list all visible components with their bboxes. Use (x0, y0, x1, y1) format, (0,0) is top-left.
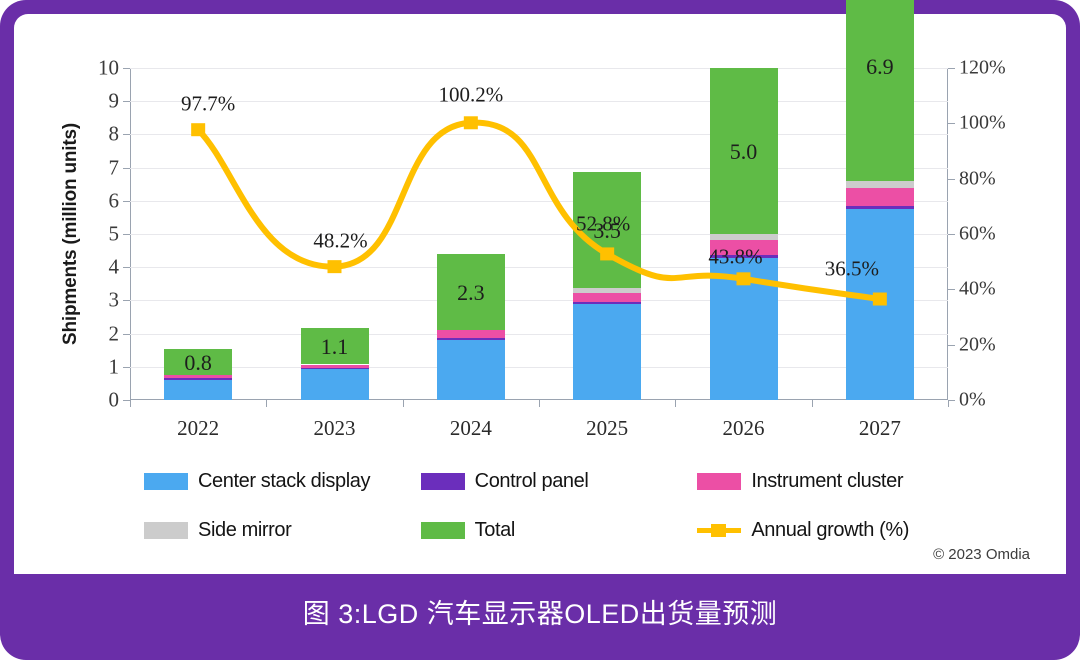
legend-color-swatch (144, 522, 188, 539)
legend-color-swatch (421, 522, 465, 539)
y-axis-tick-label: 8 (109, 122, 120, 147)
legend-label: Annual growth (%) (751, 519, 909, 542)
x-axis-tick (130, 400, 131, 407)
y-axis-tick (123, 101, 130, 102)
y-axis-tick-label: 6 (109, 188, 120, 213)
legend-label: Center stack display (198, 470, 370, 493)
growth-line-marker[interactable] (600, 247, 614, 260)
y-axis-tick (123, 168, 130, 169)
y-axis-tick (123, 201, 130, 202)
y2-axis-tick (948, 345, 955, 346)
legend-item[interactable]: Instrument cluster (697, 470, 974, 493)
y2-axis-tick (948, 123, 955, 124)
y-axis-tick-label: 7 (109, 155, 120, 180)
y2-axis-tick-label: 60% (959, 223, 996, 246)
x-axis-tick (812, 400, 813, 407)
y2-axis-tick (948, 400, 955, 401)
x-axis-tick (403, 400, 404, 407)
y-axis-tick-label: 10 (98, 56, 119, 81)
legend-label: Side mirror (198, 519, 291, 542)
growth-value-label: 36.5% (825, 257, 879, 282)
y-axis-tick-label: 4 (109, 255, 120, 280)
y-axis-tick (123, 367, 130, 368)
x-axis-tick (675, 400, 676, 407)
figure-frame: Shipments (million units) 012345678910 0… (0, 0, 1080, 660)
legend-label: Instrument cluster (751, 470, 903, 493)
growth-line-marker[interactable] (737, 272, 751, 285)
figure-caption: 图 3:LGD 汽车显示器OLED出货量预测 (0, 578, 1080, 644)
x-axis-tick-label: 2026 (723, 416, 765, 441)
plot-area: 012345678910 0%20%40%60%80%100%120% 2022… (130, 68, 948, 400)
legend-label: Control panel (475, 470, 589, 493)
legend-item[interactable]: Side mirror (144, 519, 421, 542)
y-axis-tick (123, 234, 130, 235)
x-axis-tick-label: 2025 (586, 416, 628, 441)
y-axis-tick-label: 1 (109, 354, 120, 379)
y-axis-tick (123, 68, 130, 69)
growth-line-marker[interactable] (464, 116, 478, 129)
growth-line (130, 68, 948, 400)
y2-axis-tick (948, 289, 955, 290)
y2-axis-tick-label: 0% (959, 389, 986, 412)
legend-line-marker-icon (697, 522, 741, 539)
y2-axis-tick (948, 179, 955, 180)
x-axis-tick-label: 2024 (450, 416, 492, 441)
y-axis-tick-label: 5 (109, 222, 120, 247)
x-axis-tick-label: 2022 (177, 416, 219, 441)
legend-color-swatch (697, 473, 741, 490)
y2-axis-tick (948, 234, 955, 235)
growth-value-label: 97.7% (181, 91, 235, 116)
growth-value-label: 48.2% (313, 228, 367, 253)
x-axis-tick (539, 400, 540, 407)
y-axis-title: Shipments (million units) (58, 74, 84, 394)
legend-item[interactable]: Center stack display (144, 470, 421, 493)
legend-item[interactable]: Total (421, 519, 698, 542)
y-axis-tick (123, 300, 130, 301)
legend-item[interactable]: Control panel (421, 470, 698, 493)
y2-axis-tick-label: 20% (959, 333, 996, 356)
y-axis-tick (123, 400, 130, 401)
y-axis-tick-label: 9 (109, 89, 120, 114)
legend-color-swatch (144, 473, 188, 490)
x-axis-tick (266, 400, 267, 407)
growth-value-label: 52.8% (576, 211, 630, 236)
x-axis-tick-label: 2023 (314, 416, 356, 441)
y2-axis-tick-label: 100% (959, 112, 1006, 135)
y-axis-tick (123, 267, 130, 268)
growth-line-path (198, 123, 880, 299)
legend-color-swatch (421, 473, 465, 490)
growth-line-marker[interactable] (191, 123, 205, 136)
copyright-text: © 2023 Omdia (933, 546, 1030, 563)
chart-legend: Center stack displayControl panelInstrum… (144, 470, 974, 542)
chart-card: Shipments (million units) 012345678910 0… (14, 14, 1066, 574)
y-axis-title-text: Shipments (million units) (60, 123, 82, 345)
y-axis-tick (123, 334, 130, 335)
y-axis-tick-label: 3 (109, 288, 120, 313)
x-axis-tick-label: 2027 (859, 416, 901, 441)
x-axis-tick (948, 400, 949, 407)
growth-value-label: 43.8% (708, 244, 762, 269)
y2-axis-tick-label: 40% (959, 278, 996, 301)
legend-item[interactable]: Annual growth (%) (697, 519, 974, 542)
growth-line-marker[interactable] (328, 260, 342, 273)
y2-axis-tick (948, 68, 955, 69)
y-axis-tick (123, 134, 130, 135)
growth-line-marker[interactable] (873, 293, 887, 306)
y2-axis-tick-label: 80% (959, 167, 996, 190)
y-axis-tick-label: 2 (109, 321, 120, 346)
growth-value-label: 100.2% (438, 82, 503, 107)
y-axis-tick-label: 0 (109, 388, 120, 413)
legend-label: Total (475, 519, 515, 542)
y2-axis-tick-label: 120% (959, 57, 1006, 80)
